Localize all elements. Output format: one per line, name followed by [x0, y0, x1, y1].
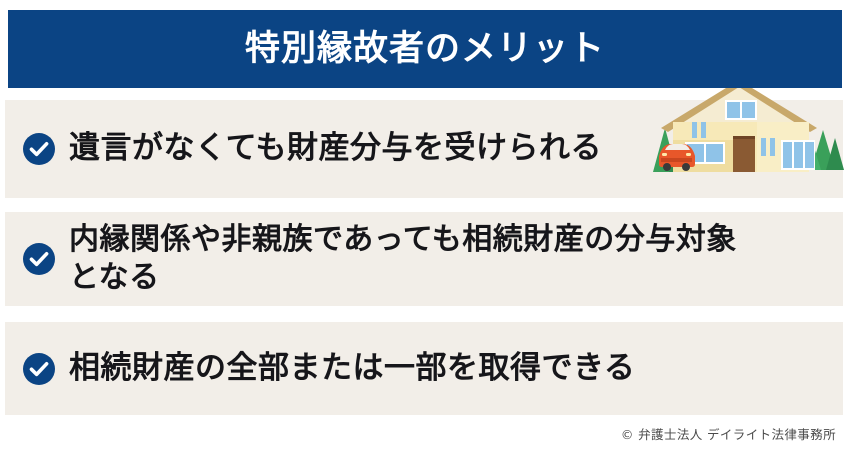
benefit-card-1: 遺言がなくても財産分与を受けられる — [5, 100, 843, 198]
benefit-card-2: 内縁関係や非親族であっても相続財産の分与対象 となる — [5, 212, 843, 306]
benefit-card-2-line-1: 内縁関係や非親族であっても相続財産の分与対象 — [69, 221, 737, 259]
benefit-card-1-text: 遺言がなくても財産分与を受けられる — [69, 129, 610, 169]
check-circle-icon — [21, 131, 57, 167]
benefit-card-2-line-2: となる — [69, 259, 737, 297]
benefit-card-3: 相続財産の全部または一部を取得できる — [5, 322, 843, 415]
header-banner: 特別縁故者のメリット — [8, 10, 842, 88]
benefit-card-1-line-1: 遺言がなくても財産分与を受けられる — [69, 129, 602, 169]
check-circle-icon — [21, 351, 57, 387]
benefit-card-3-line-1: 相続財産の全部または一部を取得できる — [69, 349, 635, 389]
benefit-card-3-text: 相続財産の全部または一部を取得できる — [69, 349, 643, 389]
benefit-card-2-text: 内縁関係や非親族であっても相続財産の分与対象 となる — [69, 221, 745, 298]
page-title: 特別縁故者のメリット — [245, 32, 605, 67]
copyright-credit: © 弁護士法人 デイライト法律事務所 — [621, 424, 836, 443]
check-circle-icon — [21, 241, 57, 277]
infographic-canvas: 特別縁故者のメリット 遺言がなくても財産分与を受けられる 内縁関係や非親族であっ… — [0, 0, 850, 451]
